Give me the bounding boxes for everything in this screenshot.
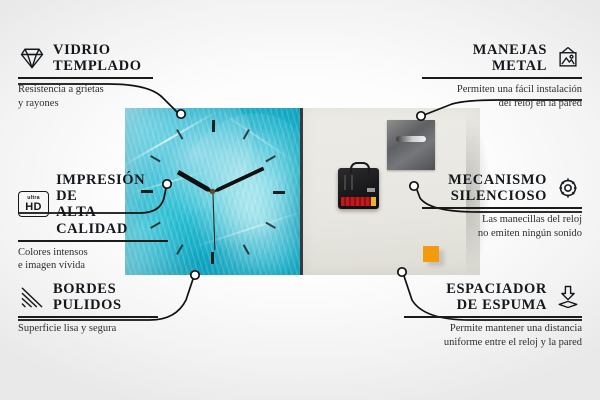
callout-bordes-pulidos: BORDES PULIDOS Superficie lisa y segura — [18, 281, 158, 336]
infographic-canvas: VIDRIO TEMPLADO Resistencia a grietas y … — [0, 0, 600, 400]
divider — [18, 240, 168, 242]
movement-hook — [350, 162, 370, 173]
divider — [404, 316, 582, 318]
callout-title: ESPACIADOR DE ESPUMA — [446, 281, 547, 313]
movement-detail — [344, 175, 346, 190]
callout-desc: Resistencia a grietas y rayones — [18, 83, 153, 110]
callout-title: IMPRESIÓN DE ALTA CALIDAD — [56, 172, 168, 237]
hanging-picture-icon — [554, 45, 582, 71]
clock-center-pin — [210, 189, 215, 194]
callout-desc: Superficie lisa y segura — [18, 322, 158, 336]
battery-terminal — [371, 197, 376, 206]
orange-foam-spacer — [423, 246, 439, 262]
quartz-movement-box — [338, 168, 379, 209]
callout-title: MECANISMO SILENCIOSO — [448, 172, 547, 204]
movement-detail — [351, 175, 353, 190]
light-streak — [217, 108, 296, 163]
divider — [18, 316, 158, 318]
callout-title: VIDRIO TEMPLADO — [53, 42, 142, 74]
callout-impresion-alta-calidad: ultra HD IMPRESIÓN DE ALTA CALIDAD Color… — [18, 172, 168, 273]
divider — [18, 77, 153, 79]
callout-espaciador-espuma: ESPACIADOR DE ESPUMA Permite mantener un… — [404, 281, 582, 349]
callout-desc: Permite mantener una distancia uniforme … — [404, 322, 582, 349]
polished-edges-icon — [18, 284, 46, 310]
light-streak — [121, 111, 216, 167]
ultra-hd-icon: ultra HD — [18, 191, 49, 217]
clock-tick — [213, 191, 285, 193]
callout-title: MANEJAS METAL — [473, 42, 547, 74]
callout-vidrio-templado: VIDRIO TEMPLADO Resistencia a grietas y … — [18, 42, 153, 110]
callout-desc: Permiten una fácil instalación del reloj… — [422, 83, 582, 110]
clock-tick — [212, 120, 214, 192]
callout-desc: Las manecillas del reloj no emiten ningú… — [422, 213, 582, 240]
gear-icon — [554, 175, 582, 201]
callout-mecanismo-silencioso: MECANISMO SILENCIOSO Las manecil — [422, 172, 582, 240]
light-streak — [191, 209, 308, 249]
diamond-icon — [18, 45, 46, 71]
foam-spacer-icon — [554, 284, 582, 310]
divider — [422, 77, 582, 79]
metal-hanger-plate — [387, 120, 435, 170]
divider — [422, 207, 582, 209]
callout-desc: Colores intensos e imagen vívida — [18, 246, 168, 273]
callout-manejas-metal: MANEJAS METAL Permiten una fácil instala… — [422, 42, 582, 110]
movement-detail — [367, 188, 375, 192]
callout-title: BORDES PULIDOS — [53, 281, 122, 313]
hanger-slot — [396, 136, 426, 142]
